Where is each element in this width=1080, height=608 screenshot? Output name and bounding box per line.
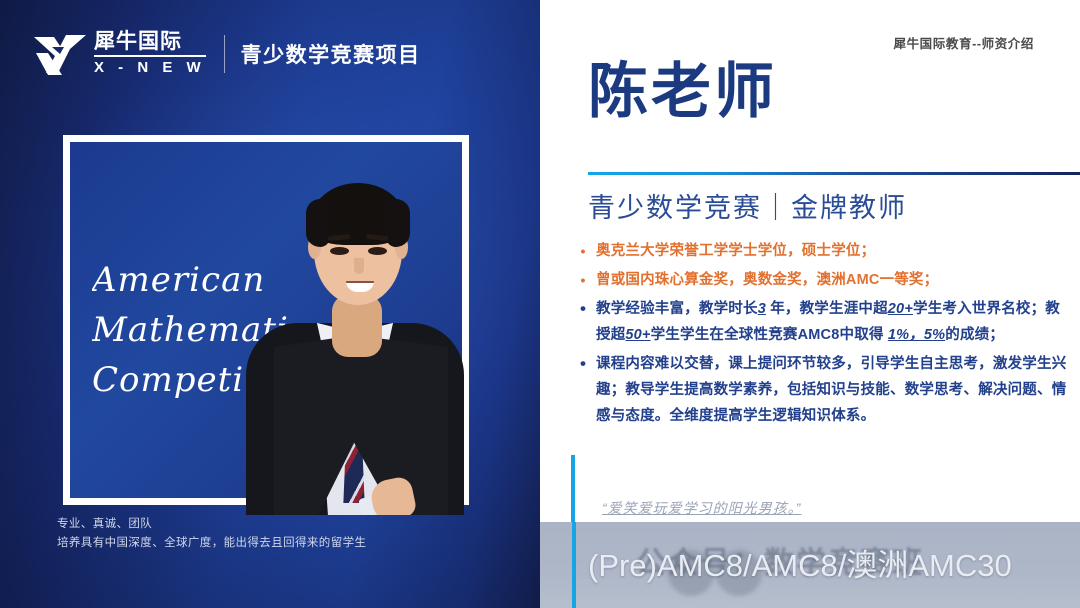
banner-course-title: (Pre)AMC8/AMC8/澳洲AMC30 [588,540,1012,585]
emphasis-value: 20+ [888,301,913,317]
x-new-logo-icon [32,29,88,79]
title-divider-rule [588,172,1080,175]
caption-line-2: 培养具有中国深度、全球广度，能出得去且回得来的留学生 [57,534,366,553]
right-content-panel: 犀牛国际教育--师资介绍 陈老师 青少数学竞赛｜金牌教师 •奥克兰大学荣誉工学学… [540,0,1080,608]
plain-text: 学生学生在全球性竞赛AMC8中取得 [651,327,888,343]
credentials-bullet-list: •奥克兰大学荣誉工学学士学位，硕士学位；•曾或国内珠心算金奖，奥数金奖，澳洲AM… [570,238,1070,432]
plain-text: 年，教学生涯中超 [766,301,888,317]
logo-chinese-name: 犀牛国际 [94,31,206,57]
plain-text: 教学经验丰富，教学时长 [596,301,758,317]
bullet-text: 曾或国内珠心算金奖，奥数金奖，澳洲AMC一等奖； [596,267,1070,293]
page-kicker: 犀牛国际教育--师资介绍 [893,33,1034,52]
bullet-marker-icon: • [570,267,596,293]
bullet-item: •曾或国内珠心算金奖，奥数金奖，澳洲AMC一等奖； [570,267,1070,293]
bullet-text: 课程内容难以交替，课上提问环节较多，引导学生自主思考，激发学生兴趣；教导学生提高… [596,351,1070,429]
teacher-portrait-photo [240,95,470,515]
bullet-item: •课程内容难以交替，课上提问环节较多，引导学生自主思考，激发学生兴趣；教导学生提… [570,351,1070,429]
emphasis-value: 3 [758,301,766,317]
banner-accent-bar [572,522,576,608]
bullet-marker-icon: • [570,238,596,264]
logo-divider [224,35,225,73]
program-tag: 青少数学竞赛项目 [241,39,421,69]
emphasis-value: 1%，5% [888,327,945,343]
bottom-course-banner: 公众号：数学竞赛班 (Pre)AMC8/AMC8/澳洲AMC30 [540,522,1080,608]
profile-subtitle: 青少数学竞赛｜金牌教师 [588,186,907,225]
logo-wordmark: 犀牛国际 X - N E W [94,31,206,78]
bullet-item: •奥克兰大学荣誉工学学士学位，硕士学位； [570,238,1070,264]
caption-line-1: 专业、真诚、团队 [57,515,366,534]
left-blue-panel: 犀牛国际 X - N E W 青少数学竞赛项目 American Mathema… [0,0,540,608]
profile-quote: “爱笑爱玩爱学习的阳光男孩。” [602,498,801,518]
brand-logo-lockup[interactable]: 犀牛国际 X - N E W 青少数学竞赛项目 [32,26,421,82]
plain-text: 的成绩； [945,327,1004,343]
bullet-item: •教学经验丰富，教学时长3 年，教学生涯中超20+学生考入世界名校；教授超50+… [570,296,1070,348]
bullet-marker-icon: • [570,351,596,429]
bullet-text: 奥克兰大学荣誉工学学士学位，硕士学位； [596,238,1070,264]
plain-text: 课程内容难以交替，课上提问环节较多，引导学生自主思考，激发学生兴趣；教导学生提高… [596,356,1066,424]
emphasis-value: 50+ [625,327,650,343]
slide-root: 犀牛国际 X - N E W 青少数学竞赛项目 American Mathema… [0,0,1080,608]
logo-english-name: X - N E W [94,59,206,78]
bullet-text: 教学经验丰富，教学时长3 年，教学生涯中超20+学生考入世界名校；教授超50+学… [596,296,1070,348]
page-title: 陈老师 [588,62,777,122]
bullet-marker-icon: • [570,296,596,348]
left-panel-captions: 专业、真诚、团队 培养具有中国深度、全球广度，能出得去且回得来的留学生 [57,515,366,553]
